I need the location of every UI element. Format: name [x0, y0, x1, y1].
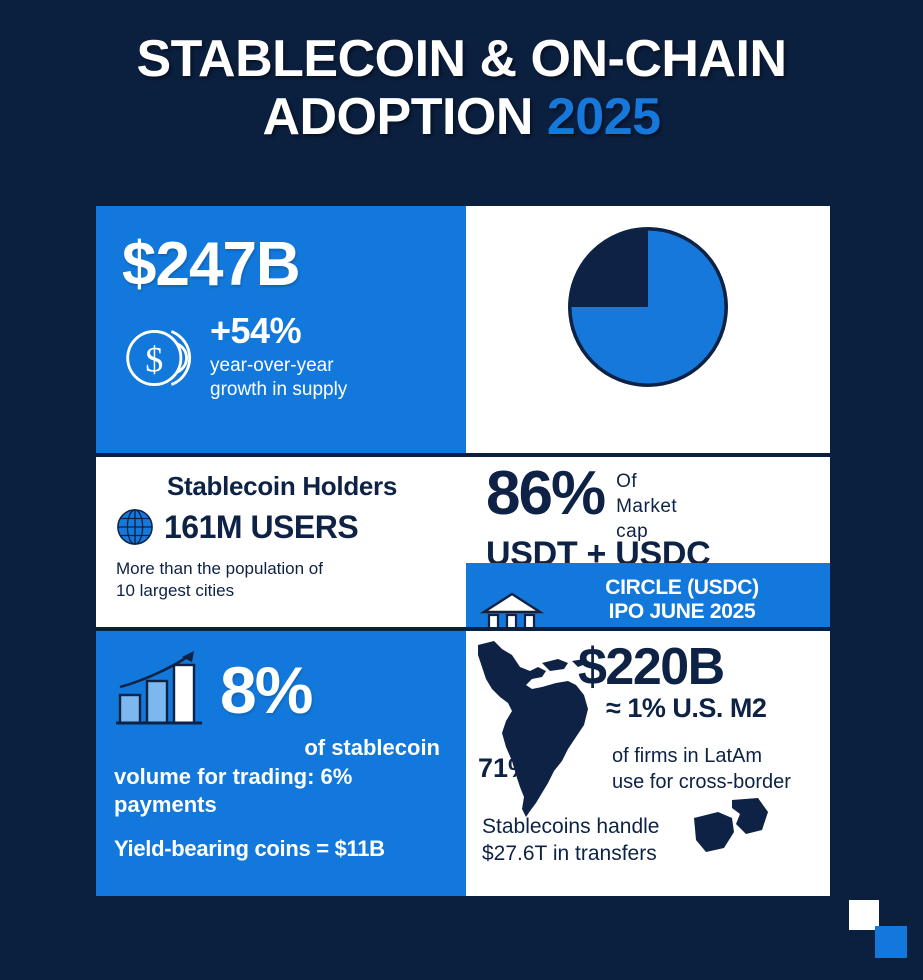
- svg-text:$: $: [145, 339, 163, 379]
- latam-firms-caption: of firms in LatAm use for cross-border: [612, 743, 791, 795]
- holders-caption: More than the population of 10 largest c…: [116, 558, 448, 602]
- title-line-1: STABLECOIN & ON-CHAIN: [0, 30, 923, 88]
- volume-percent: 8%: [220, 652, 311, 728]
- corner-square-blue: [875, 926, 907, 958]
- latam-value: $220B: [578, 637, 724, 697]
- market-cap-percent: 86%: [486, 463, 604, 525]
- stats-grid: $247B $ +54% year-over-year growth in su…: [96, 206, 830, 900]
- volume-line-2: volume for trading: 6% payments: [114, 763, 450, 818]
- volume-line-1: of stablecoin: [114, 735, 450, 761]
- bar-chart-growth-icon: [114, 647, 206, 733]
- circle-ipo-headline: CIRCLE (USDC) IPO JUNE 2025: [544, 576, 820, 623]
- title-line-2: ADOPTION 2025: [0, 88, 923, 146]
- page-title: STABLECOIN & ON-CHAIN ADOPTION 2025: [0, 30, 923, 146]
- holders-title: Stablecoin Holders: [116, 471, 448, 502]
- coin-dollar-icon: $: [122, 320, 198, 396]
- infographic-page: STABLECOIN & ON-CHAIN ADOPTION 2025 $247…: [0, 0, 923, 980]
- grid-row-2: Stablecoin Holders 161M USERS More than …: [96, 457, 830, 627]
- card-holders: Stablecoin Holders 161M USERS More than …: [96, 457, 466, 627]
- title-year-text: 2025: [547, 88, 661, 146]
- card-latam: $220B ≈ 1% U.S. M2 71% of firms in LatAm…: [466, 631, 830, 896]
- card-circle-ipo: CIRCLE (USDC) IPO JUNE 2025 Stable & Gen…: [466, 563, 830, 627]
- abstract-landmass-icon: [688, 796, 774, 868]
- market-cap-pie-chart: [563, 222, 733, 392]
- card-market-cap-pie: [466, 206, 830, 453]
- market-cap-label: Of Market cap: [616, 469, 677, 544]
- card-volume: 8% of stablecoin volume for trading: 6% …: [96, 631, 466, 896]
- bank-icon: [480, 588, 544, 627]
- corner-decoration: [849, 900, 915, 966]
- card-supply: $247B $ +54% year-over-year growth in su…: [96, 206, 466, 453]
- grid-row-1: $247B $ +54% year-over-year growth in su…: [96, 206, 830, 453]
- latam-transfers: Stablecoins handle $27.6T in transfers: [482, 813, 659, 868]
- latam-equivalence: ≈ 1% U.S. M2: [606, 693, 766, 724]
- supply-change: +54%: [210, 310, 347, 352]
- latam-firms-percent: 71%: [478, 753, 532, 784]
- globe-icon: [116, 508, 154, 546]
- holders-user-count: 161M USERS: [164, 509, 358, 546]
- grid-row-3: 8% of stablecoin volume for trading: 6% …: [96, 631, 830, 896]
- card-market-cap-stats: 86% Of Market cap USDT + USDC CIRCLE (US…: [466, 457, 830, 627]
- title-adoption-text: ADOPTION: [262, 88, 546, 146]
- supply-value: $247B: [122, 234, 448, 296]
- supply-caption: year-over-year growth in supply: [210, 354, 347, 402]
- volume-yield: Yield-bearing coins = $11B: [114, 836, 450, 862]
